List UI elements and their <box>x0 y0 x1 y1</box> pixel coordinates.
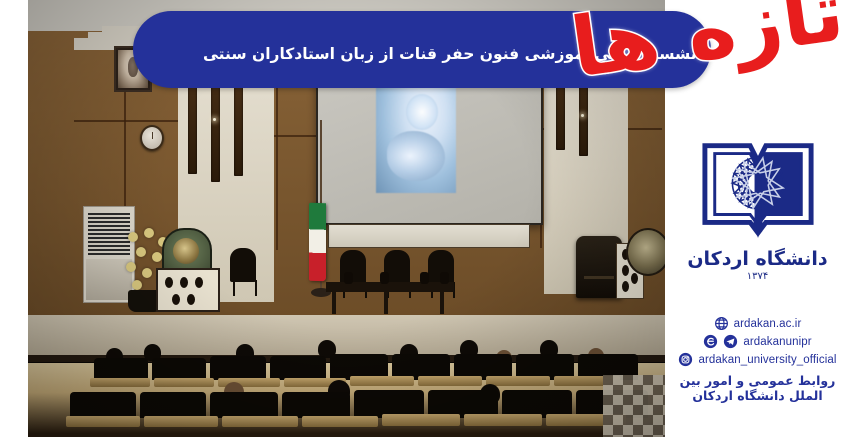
pilaster-light-1 <box>213 118 216 121</box>
projection-screen <box>316 64 543 225</box>
messaging-handle: ardakanunipr <box>743 336 811 348</box>
website-url: ardakan.ac.ir <box>734 318 802 330</box>
instagram-icon <box>678 352 693 367</box>
poster-canvas: مهـــــــــــــــــــــــــــــــــــویـ… <box>0 0 850 448</box>
decorative-lattice-panel <box>156 268 220 312</box>
seat-writing-desk <box>66 416 140 427</box>
table-object-2 <box>380 272 389 284</box>
seat-writing-desk <box>302 416 378 427</box>
seat-writing-desk <box>90 378 150 387</box>
audience-seat <box>70 392 136 418</box>
pilaster-slot-3 <box>234 78 243 176</box>
contact-row-instagram[interactable]: ardakan_university_official <box>665 352 850 367</box>
university-founding-year: ۱۳۷۴ <box>665 271 850 282</box>
open-book-logo-icon <box>699 128 817 246</box>
seat-writing-desk <box>418 376 482 386</box>
stage-chair-1 <box>230 248 256 282</box>
pilaster-light-2 <box>581 114 584 117</box>
seat-writing-desk <box>350 376 414 386</box>
wall-step-1 <box>74 38 88 50</box>
seat-writing-desk <box>154 378 214 387</box>
wall-step-2 <box>88 32 102 50</box>
university-logo: دانشگاه اردکان ۱۳۷۴ <box>665 128 850 282</box>
audience-seat <box>94 358 148 380</box>
seat-writing-desk <box>144 416 218 427</box>
university-name: دانشگاه اردکان <box>665 248 850 270</box>
audience-seat <box>210 356 266 380</box>
seat-writing-desk <box>222 416 298 427</box>
table-object-3 <box>420 272 429 284</box>
eitaa-icon <box>703 334 718 349</box>
public-relations-footer: روابط عمومی و امور بین الملل دانشگاه ارد… <box>665 373 850 403</box>
seat-writing-desk <box>382 414 460 426</box>
audience-seat <box>282 392 350 418</box>
checkered-floor <box>603 375 665 437</box>
telegram-icon <box>723 334 738 349</box>
screen-lower-panel <box>328 224 530 248</box>
audience-seat <box>140 392 206 418</box>
decorative-medallion-right <box>626 228 665 276</box>
contact-list: ardakan.ac.ir ardakanunip <box>665 316 850 403</box>
globe-icon <box>714 316 729 331</box>
contact-row-website[interactable]: ardakan.ac.ir <box>665 316 850 331</box>
stage-floor <box>28 315 665 359</box>
contact-row-messaging[interactable]: ardakanunipr <box>665 334 850 349</box>
table-object-4 <box>440 272 449 284</box>
audience-seat <box>210 392 278 418</box>
instagram-handle: ardakan_university_official <box>698 354 836 366</box>
iran-flag-icon <box>309 203 326 282</box>
table-object-1 <box>344 272 353 284</box>
seat-writing-desk <box>486 376 550 386</box>
projected-slide-image <box>376 81 456 193</box>
seat-writing-desk <box>464 414 542 426</box>
audience-seat <box>152 358 206 380</box>
audience-seat <box>270 356 326 380</box>
wall-clock-icon <box>140 125 164 151</box>
